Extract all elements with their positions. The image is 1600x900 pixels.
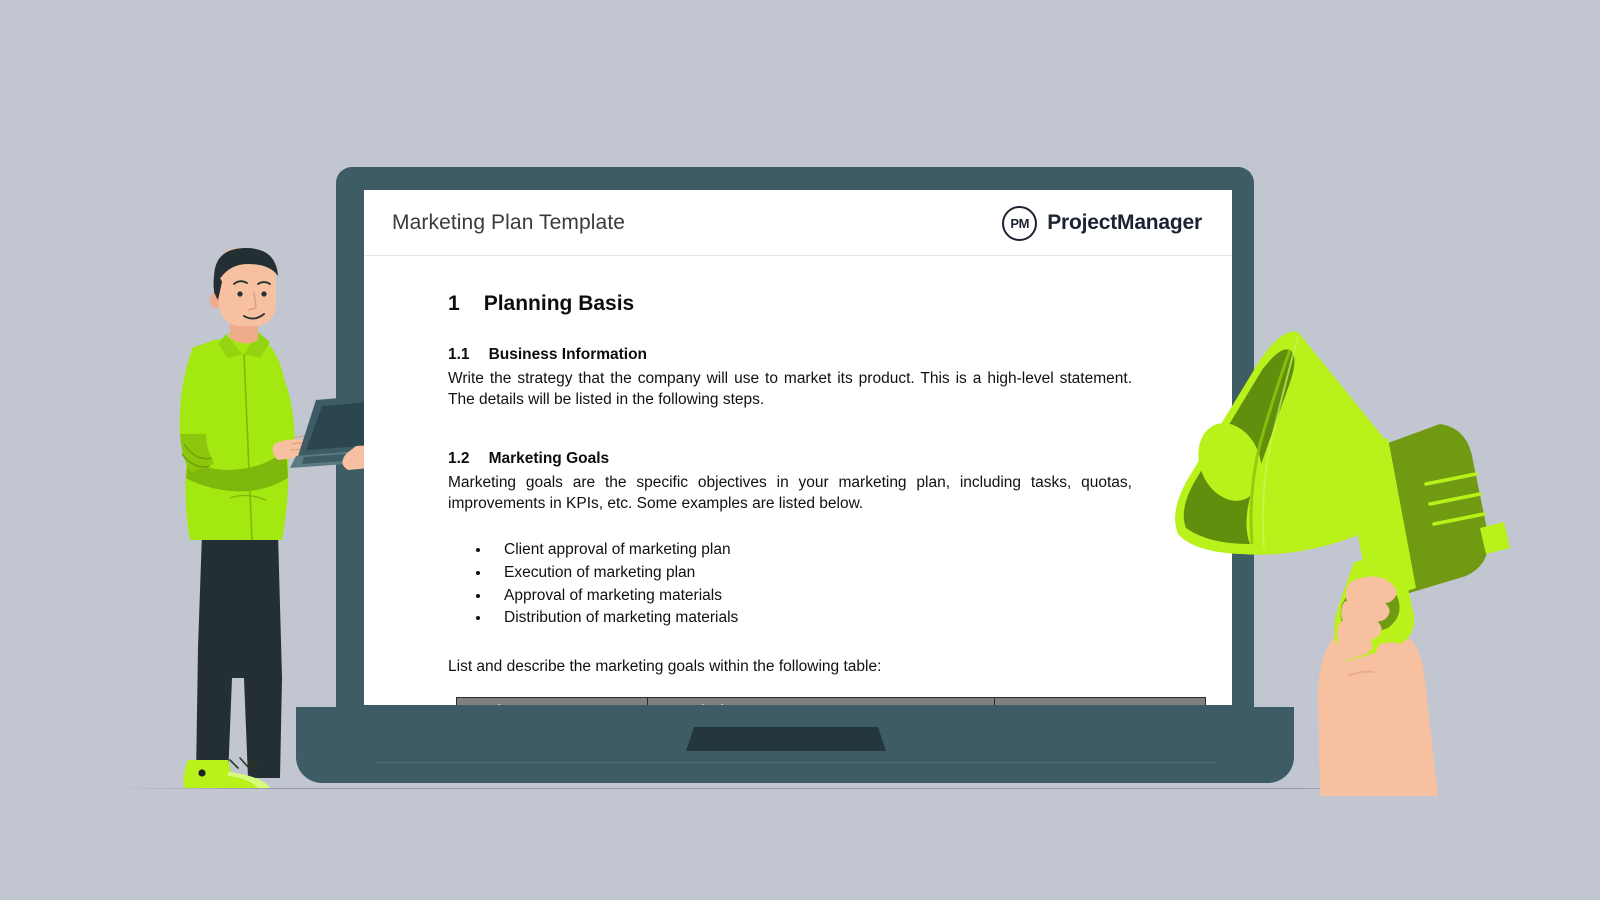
document-header: Marketing Plan Template PM ProjectManage… [364,190,1232,256]
list-item: Distribution of marketing materials [476,608,1170,629]
table-intro-text: List and describe the marketing goals wi… [448,657,1132,678]
list-item: Client approval of marketing plan [476,540,1170,561]
section-1-heading: 1 Planning Basis [448,292,1170,316]
marketing-goals-list: Client approval of marketing plan Execut… [448,540,1170,628]
hand-holding-megaphone-illustration [1148,296,1558,796]
section-1-title: Planning Basis [484,292,635,316]
document-body: 1 Planning Basis 1.1 Business Informatio… [364,256,1232,705]
spacer [448,410,1170,450]
pm-monogram-icon: PM [1002,206,1037,241]
marketing-goals-table: Goals Description Target Date Client app… [456,697,1206,705]
section-1-1-title: Business Information [489,346,647,364]
brand-logo: PM ProjectManager [1002,206,1202,241]
laptop-trackpad-notch [686,727,886,751]
section-1-1-number: 1.1 [448,346,470,364]
section-1-2-number: 1.2 [448,450,470,468]
section-1-2-title: Marketing Goals [489,450,610,468]
list-item: Execution of marketing plan [476,563,1170,584]
header-divider [364,255,1232,256]
page-title: Marketing Plan Template [392,211,625,235]
column-header-description: Description [648,698,995,705]
pm-monogram-text: PM [1010,216,1029,231]
laptop-screen: Marketing Plan Template PM ProjectManage… [364,190,1232,705]
section-1-number: 1 [448,292,460,316]
section-1-1-heading: 1.1 Business Information [448,346,1170,364]
section-1-1-body: Write the strategy that the company will… [448,369,1132,410]
brand-name: ProjectManager [1047,211,1202,235]
column-header-goals: Goals [457,698,648,705]
spacer [448,514,1170,540]
section-1-2-body: Marketing goals are the specific objecti… [448,473,1132,514]
scene-stage: Marketing Plan Template PM ProjectManage… [0,0,1600,900]
section-1-2-heading: 1.2 Marketing Goals [448,450,1170,468]
table-header-row: Goals Description Target Date [457,698,1206,705]
list-item: Approval of marketing materials [476,586,1170,607]
spacer [448,631,1170,657]
laptop-base-highlight [376,762,1216,763]
